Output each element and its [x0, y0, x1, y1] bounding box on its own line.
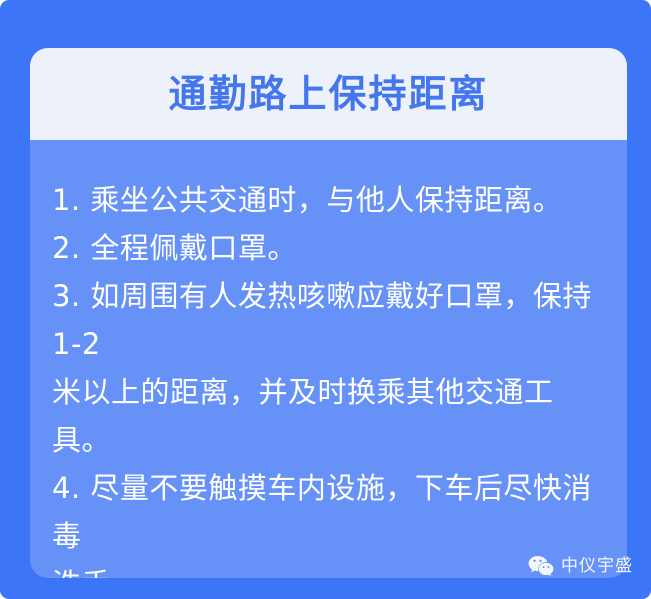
watermark-label: 中仪宇盛 [561, 558, 633, 575]
list-item: 2. 全程佩戴口罩。 [52, 224, 605, 272]
watermark: 中仪宇盛 [528, 555, 633, 577]
list-item: 4. 尽量不要触摸车内设施，下车后尽快消毒 洗手。 [52, 464, 605, 578]
list-item: 3. 如周围有人发热咳嗽应戴好口罩，保持1-2 米以上的距离，并及时换乘其他交通… [52, 272, 605, 464]
list-item: 1. 乘坐公共交通时，与他人保持距离。 [52, 176, 605, 224]
card-header: 通勤路上保持距离 [30, 48, 627, 140]
poster-canvas: 通勤路上保持距离 1. 乘坐公共交通时，与他人保持距离。 2. 全程佩戴口罩。 … [0, 0, 651, 599]
page-title: 通勤路上保持距离 [168, 75, 488, 113]
card-body: 1. 乘坐公共交通时，与他人保持距离。 2. 全程佩戴口罩。 3. 如周围有人发… [30, 140, 627, 578]
info-card: 通勤路上保持距离 1. 乘坐公共交通时，与他人保持距离。 2. 全程佩戴口罩。 … [30, 48, 627, 578]
wechat-icon [528, 555, 554, 577]
